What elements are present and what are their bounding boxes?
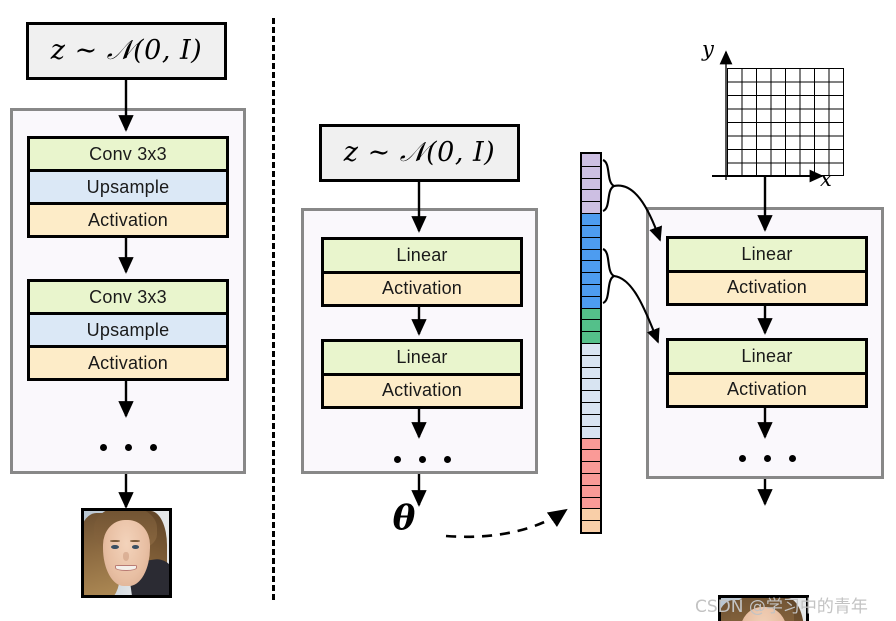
weight-cell	[582, 414, 600, 426]
weight-cell	[582, 272, 600, 284]
middle-block-1-row-activation: Activation	[324, 271, 520, 305]
middle-block-2: Linear Activation	[321, 339, 523, 409]
left-output-face-image	[81, 508, 172, 598]
weight-cell	[582, 343, 600, 355]
weight-cell	[582, 461, 600, 473]
right-block-2-row-activation: Activation	[669, 372, 865, 406]
weight-cell	[582, 319, 600, 331]
weight-cell	[582, 260, 600, 272]
weight-cell	[582, 296, 600, 308]
left-block-2-row-upsample: Upsample	[30, 312, 226, 345]
middle-ellipsis	[372, 453, 472, 465]
weight-cell	[582, 438, 600, 450]
middle-latent-label: z ∼ 𝒩(0, I)	[344, 137, 495, 169]
weight-cell	[582, 225, 600, 237]
weight-cell	[582, 249, 600, 261]
predicted-weight-vector	[580, 152, 602, 534]
x-axis-label: x	[820, 167, 832, 191]
brace-weights-upper	[603, 160, 614, 211]
left-block-1-row-activation: Activation	[30, 202, 226, 235]
watermark: CSDN @学习中的青年	[695, 592, 868, 617]
weight-cell	[582, 213, 600, 225]
weight-cell	[582, 154, 600, 166]
left-generator-stack: Conv 3x3 Upsample Activation Conv 3x3 Up…	[10, 108, 246, 474]
weight-cell	[582, 426, 600, 438]
weight-cell	[582, 178, 600, 190]
weight-cell	[582, 390, 600, 402]
left-block-2-row-activation: Activation	[30, 345, 226, 378]
weight-cell	[582, 284, 600, 296]
weight-cell	[582, 485, 600, 497]
left-block-1-row-upsample: Upsample	[30, 169, 226, 202]
middle-block-1-row-linear: Linear	[324, 240, 520, 271]
arrow-theta-to-weights	[446, 510, 566, 537]
right-block-1-row-linear: Linear	[669, 239, 865, 270]
weight-cell	[582, 331, 600, 343]
middle-block-2-row-linear: Linear	[324, 342, 520, 373]
left-block-1-row-conv: Conv 3x3	[30, 139, 226, 169]
weight-cell	[582, 520, 600, 532]
weight-cell	[582, 449, 600, 461]
weight-cell	[582, 308, 600, 320]
right-block-1-row-activation: Activation	[669, 270, 865, 304]
right-block-2-row-linear: Linear	[669, 341, 865, 372]
left-block-2-row-conv: Conv 3x3	[30, 282, 226, 312]
weight-cell	[582, 473, 600, 485]
middle-block-1: Linear Activation	[321, 237, 523, 307]
weight-cell	[582, 189, 600, 201]
panel-divider	[272, 18, 275, 600]
y-axis-label: y	[702, 37, 714, 61]
weight-cell	[582, 497, 600, 509]
middle-latent-box: z ∼ 𝒩(0, I)	[319, 124, 520, 182]
theta-symbol: θ	[393, 498, 416, 538]
left-block-2: Conv 3x3 Upsample Activation	[27, 279, 229, 381]
right-ellipsis	[717, 452, 817, 464]
left-ellipsis	[78, 441, 178, 453]
weight-cell	[582, 378, 600, 390]
left-block-1: Conv 3x3 Upsample Activation	[27, 136, 229, 238]
right-coordmlp-stack: Linear Activation Linear Activation	[646, 207, 884, 479]
left-latent-label: z ∼ 𝒩(0, I)	[51, 35, 202, 67]
right-block-1: Linear Activation	[666, 236, 868, 306]
weight-cell	[582, 355, 600, 367]
middle-block-2-row-activation: Activation	[324, 373, 520, 407]
weight-cell	[582, 367, 600, 379]
brace-weights-lower	[603, 249, 614, 303]
diagram-canvas: z ∼ 𝒩(0, I) Conv 3x3 Upsample Activation…	[0, 0, 896, 621]
middle-hypernetwork-stack: Linear Activation Linear Activation	[301, 208, 538, 474]
weight-cell	[582, 402, 600, 414]
weight-cell	[582, 508, 600, 520]
coordinate-grid	[727, 68, 844, 176]
weight-cell	[582, 201, 600, 213]
left-latent-box: z ∼ 𝒩(0, I)	[26, 22, 227, 80]
right-block-2: Linear Activation	[666, 338, 868, 408]
weight-cell	[582, 166, 600, 178]
weight-cell	[582, 237, 600, 249]
